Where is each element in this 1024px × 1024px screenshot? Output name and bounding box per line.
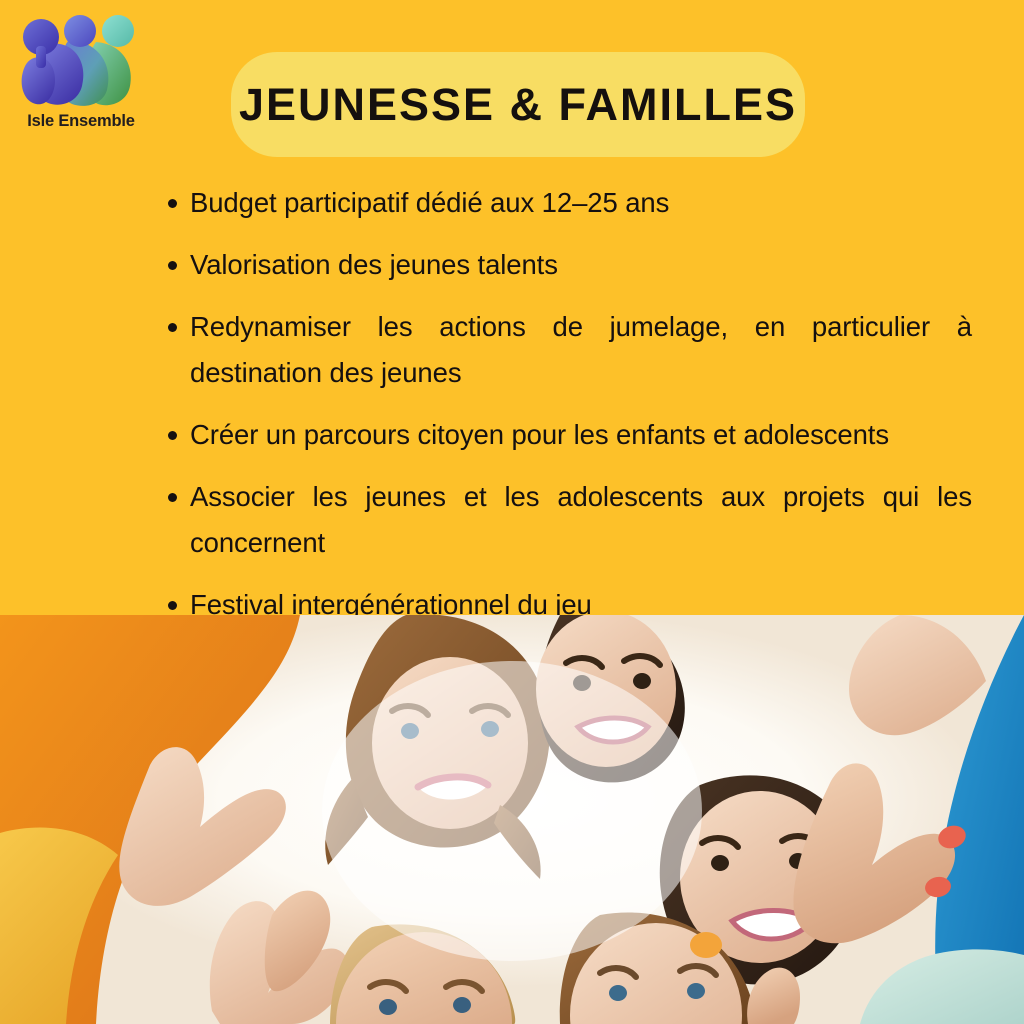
logo-wordmark: Isle Ensemble: [8, 112, 154, 131]
list-item: Créer un parcours citoyen pour les enfan…: [160, 412, 972, 458]
list-item: Valorisation des jeunes talents: [160, 242, 972, 288]
list-item-text: Redynamiser les actions de jumelage, en …: [190, 304, 972, 396]
group-photo: [0, 615, 1024, 1024]
title-badge: JEUNESSE & FAMILLES: [231, 52, 805, 157]
list-item-text: Créer un parcours citoyen pour les enfan…: [190, 412, 972, 458]
list-item-text: Budget participatif dédié aux 12–25 ans: [190, 180, 972, 226]
list-item: Redynamiser les actions de jumelage, en …: [160, 304, 972, 396]
isle-ensemble-logo-icon: [14, 14, 144, 109]
poster-canvas: Isle Ensemble JEUNESSE & FAMILLES Budget…: [0, 0, 1024, 1024]
list-item: Budget participatif dédié aux 12–25 ans: [160, 180, 972, 226]
list-item-text: Associer les jeunes et les adolescents a…: [190, 474, 972, 566]
list-item: Associer les jeunes et les adolescents a…: [160, 474, 972, 566]
logo-block: Isle Ensemble: [8, 14, 154, 138]
page-title: JEUNESSE & FAMILLES: [239, 79, 797, 131]
bullet-list: Budget participatif dédié aux 12–25 ans …: [160, 180, 972, 628]
list-item-text: Valorisation des jeunes talents: [190, 242, 972, 288]
top-content-panel: Isle Ensemble JEUNESSE & FAMILLES Budget…: [0, 0, 1024, 615]
